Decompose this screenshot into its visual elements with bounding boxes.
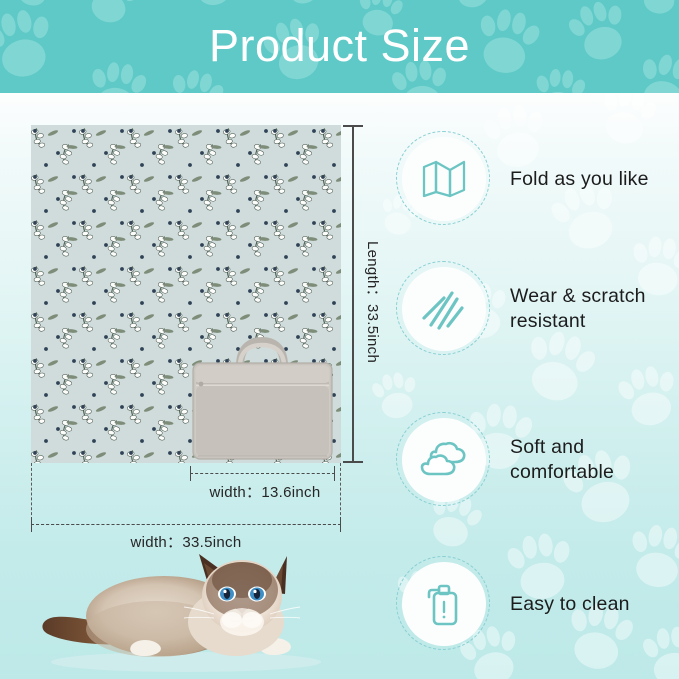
feature-item-soft: Soft and comfortable (396, 412, 679, 508)
feature-label-fold: Fold as you like (510, 167, 649, 192)
feature-label-soft: Soft and comfortable (510, 435, 614, 485)
feature-list: Fold as you like Wear & scratch re (396, 131, 679, 671)
feature-badge (396, 261, 492, 357)
sleeve-width-cap-right (334, 466, 335, 481)
length-dimension-cap-top (343, 125, 363, 127)
mat-width-cap-right (340, 517, 341, 532)
badge-circle (402, 137, 486, 221)
laptop-sleeve-image (190, 336, 335, 463)
feature-label-clean: Easy to clean (510, 592, 630, 617)
badge-circle (402, 562, 486, 646)
sleeve-width-dimension-label: width：13.6inch (190, 481, 340, 502)
badge-circle (402, 267, 486, 351)
cloud-icon (419, 441, 469, 479)
length-dimension-cap-bottom (343, 461, 363, 463)
scratch-lines-icon (421, 287, 467, 331)
feature-badge (396, 131, 492, 227)
sleeve-width-cap-left (190, 466, 191, 481)
cat-image (36, 534, 366, 679)
ragdoll-cat-icon (36, 534, 366, 679)
mat-width-dimension-line (31, 524, 341, 526)
badge-circle (402, 418, 486, 502)
feature-item-clean: Easy to clean (396, 556, 679, 652)
sleeve-bag-icon (190, 336, 335, 463)
feature-badge (396, 412, 492, 508)
feature-item-fold: Fold as you like (396, 131, 679, 227)
length-dimension-line (352, 125, 354, 463)
sleeve-width-dimension-line (190, 473, 335, 475)
product-size-infographic: Product Size (0, 0, 679, 679)
header-banner: Product Size (0, 0, 679, 93)
page-title: Product Size (0, 20, 679, 72)
detergent-bottle-icon (424, 581, 464, 627)
feature-label-scratch: Wear & scratch resistant (510, 284, 646, 334)
length-dimension-label: Length：33.5inch (363, 241, 384, 381)
folded-map-icon (421, 159, 467, 199)
feature-badge (396, 556, 492, 652)
mat-width-cap-left (31, 517, 32, 532)
feature-item-scratch: Wear & scratch resistant (396, 261, 679, 357)
